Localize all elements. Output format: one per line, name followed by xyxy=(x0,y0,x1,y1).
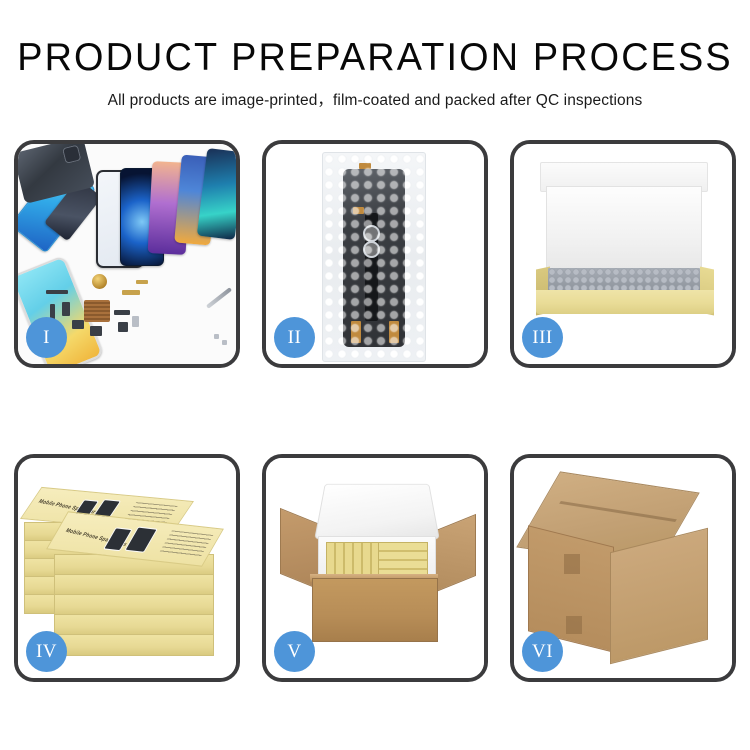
process-step-grid: I II xyxy=(14,140,736,682)
connector-mid-icon xyxy=(353,207,364,214)
speaker-icon xyxy=(62,302,70,316)
carton-front-panel xyxy=(312,578,438,642)
connector-icon xyxy=(122,290,140,295)
flex-cable-icon xyxy=(46,290,68,294)
carton-right-face xyxy=(610,528,708,664)
connector-bottom-left-icon xyxy=(351,321,361,343)
step-badge-5: V xyxy=(274,631,315,672)
bubble-wrap-bag xyxy=(322,152,426,362)
process-step-3: III xyxy=(510,140,736,368)
carton-tape-upper xyxy=(564,554,580,574)
product-preparation-infographic: PRODUCT PREPARATION PROCESS All products… xyxy=(0,0,750,750)
stacked-box-front-2 xyxy=(54,574,214,596)
screw-icon xyxy=(132,316,139,327)
header: PRODUCT PREPARATION PROCESS All products… xyxy=(0,36,750,110)
step-badge-1: I xyxy=(26,317,67,358)
gold-contact-icon xyxy=(136,280,148,284)
camera-ring-icon xyxy=(363,225,380,242)
stacked-box-front-5 xyxy=(54,634,214,656)
process-step-1: I xyxy=(14,140,240,368)
carton-tape-lower xyxy=(566,616,582,634)
foam-sheet xyxy=(546,186,702,270)
button-icon xyxy=(118,322,128,332)
process-step-6: VI xyxy=(510,454,736,682)
step-badge-3: III xyxy=(522,317,563,358)
connector-top-icon xyxy=(359,163,371,169)
page-subtitle: All products are image-printed，film-coat… xyxy=(0,88,750,110)
buzzer-icon xyxy=(90,326,102,336)
process-step-5: V xyxy=(262,454,488,682)
process-step-4: Mobile Phone Spare Parts Mobile Phone Sp… xyxy=(14,454,240,682)
box-front-panel xyxy=(536,290,714,314)
tweezers-icon xyxy=(206,287,232,309)
foam-box-lid xyxy=(314,484,439,539)
camera-module-icon xyxy=(72,320,84,329)
page-title: PRODUCT PREPARATION PROCESS xyxy=(11,36,739,80)
step-badge-4: IV xyxy=(26,631,67,672)
connector-bottom-right-icon xyxy=(389,321,399,343)
step-badge-6: VI xyxy=(522,631,563,672)
stacked-box-front-3 xyxy=(54,594,214,616)
vibrator-motor-icon xyxy=(92,274,107,289)
antenna-flex-icon xyxy=(114,310,130,315)
small-screw-icon xyxy=(214,334,219,339)
process-step-2: II xyxy=(262,140,488,368)
box-spec-lines-front xyxy=(159,530,213,557)
stacked-box-front-4 xyxy=(54,614,214,636)
shield-plate-icon xyxy=(84,300,110,322)
small-screw-2-icon xyxy=(222,340,227,345)
sensor-ring-icon xyxy=(363,241,380,258)
step-badge-2: II xyxy=(274,317,315,358)
